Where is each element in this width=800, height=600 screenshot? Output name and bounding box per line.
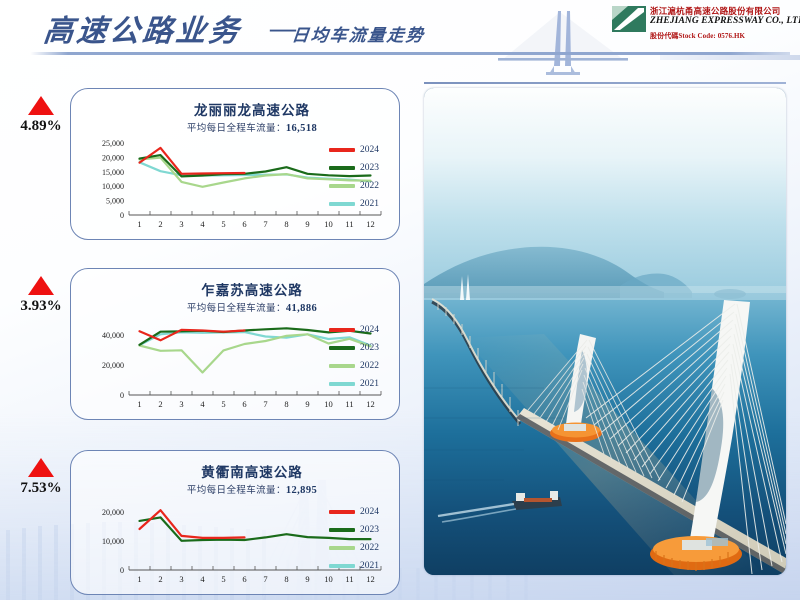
bridge-photo [424,88,786,575]
x-axis-tick-label: 4 [200,219,205,229]
legend-label: 2023 [360,163,379,173]
x-axis-tick-label: 6 [242,219,246,229]
legend-swatch-icon [329,364,355,368]
card-subtitle-label: 平均每日全程车流量： [187,304,286,314]
legend-item-2022: 2022 [329,539,395,557]
x-axis-tick-label: 2 [158,574,162,584]
delta-value: 7.53% [12,480,70,497]
y-axis-tick-label: 0 [120,211,124,220]
x-axis-tick-label: 1 [137,219,141,229]
legend-item-2021: 2021 [329,195,395,213]
page-header: 高速公路业务 — 日均车流量走势 浙江滬杭甬高速公路股份有限公司 ZHEJIAN… [0,0,800,76]
company-logo: 浙江滬杭甬高速公路股份有限公司 ZHEJIANG EXPRESSWAY CO.,… [612,4,790,50]
header-bridge-icon [498,8,628,78]
page-title: 高速公路业务 [42,6,245,50]
delta-indicator: 7.53% [12,458,70,497]
legend-swatch-icon [329,510,355,514]
legend-item-2023: 2023 [329,521,395,539]
x-axis-tick-label: 11 [345,399,353,409]
legend-label: 2022 [360,181,379,191]
x-axis-tick-label: 11 [345,574,353,584]
photo-top-divider [424,82,786,84]
legend-label: 2024 [360,325,379,335]
x-axis-tick-label: 6 [242,574,246,584]
x-axis-tick-label: 5 [221,399,225,409]
triangle-up-icon [28,96,54,115]
legend-item-2021: 2021 [329,375,395,393]
legend-swatch-icon [329,166,355,170]
y-axis-tick-label: 0 [120,566,124,575]
x-axis-tick-label: 12 [366,219,375,229]
x-axis-tick-label: 11 [345,219,353,229]
x-axis-tick-label: 3 [179,574,183,584]
legend-swatch-icon [329,546,355,550]
header-divider-accent [660,55,800,60]
x-axis-tick-label: 4 [200,399,205,409]
chart-card: 龙丽丽龙高速公路 平均每日全程车流量：16,518 05,00010,00015… [70,88,400,240]
legend-item-2023: 2023 [329,339,395,357]
card-subtitle: 平均每日全程车流量：41,886 [71,300,399,314]
x-axis-tick-label: 6 [242,399,246,409]
legend-item-2022: 2022 [329,177,395,195]
legend-item-2021: 2021 [329,557,395,575]
x-axis-tick-label: 1 [137,574,141,584]
card-title: 黄衢南高速公路 [71,461,399,481]
legend-label: 2022 [360,361,379,371]
x-axis-tick-label: 3 [179,399,183,409]
x-axis-tick-label: 10 [324,574,333,584]
y-axis-tick-label: 25,000 [102,139,124,148]
triangle-up-icon [28,276,54,295]
x-axis-tick-label: 8 [284,574,288,584]
card-title: 龙丽丽龙高速公路 [71,99,399,119]
chart-legend: 2024202320222021 [329,321,395,393]
x-axis-tick-label: 3 [179,219,183,229]
legend-swatch-icon [329,184,355,188]
x-axis-tick-label: 7 [263,399,267,409]
y-axis-tick-label: 5,000 [106,197,124,206]
chart-legend: 2024202320222021 [329,141,395,213]
triangle-up-icon [28,458,54,477]
x-axis-tick-label: 12 [366,399,375,409]
legend-label: 2023 [360,343,379,353]
legend-swatch-icon [329,564,355,568]
y-axis-tick-label: 10,000 [102,537,124,546]
delta-indicator: 4.89% [12,96,70,135]
legend-item-2023: 2023 [329,159,395,177]
legend-label: 2024 [360,145,379,155]
legend-swatch-icon [329,202,355,206]
card-subtitle: 平均每日全程车流量：16,518 [71,120,399,134]
legend-label: 2022 [360,543,379,553]
page-subtitle: 日均车流量走势 [291,21,427,46]
legend-label: 2021 [360,379,379,389]
legend-label: 2021 [360,561,379,571]
logo-stock-code: 股份代碼Stock Code: 0576.HK [650,31,745,41]
card-subtitle-value: 16,518 [286,123,317,134]
delta-value: 4.89% [12,118,70,135]
y-axis-tick-label: 20,000 [102,361,124,370]
x-axis-tick-label: 1 [137,399,141,409]
x-axis-tick-label: 9 [305,219,309,229]
y-axis-tick-label: 20,000 [102,508,124,517]
legend-label: 2021 [360,199,379,209]
x-axis-tick-label: 2 [158,399,162,409]
card-subtitle-label: 平均每日全程车流量： [187,486,286,496]
x-axis-tick-label: 7 [263,219,267,229]
x-axis-tick-label: 7 [263,574,267,584]
y-axis-tick-label: 10,000 [102,182,124,191]
delta-indicator: 3.93% [12,276,70,315]
x-axis-tick-label: 4 [200,574,205,584]
legend-label: 2023 [360,525,379,535]
y-axis-tick-label: 20,000 [102,153,124,162]
x-axis-tick-label: 9 [305,399,309,409]
legend-swatch-icon [329,528,355,532]
chart-card: 黄衢南高速公路 平均每日全程车流量：12,895 010,00020,00012… [70,450,400,595]
chart-card: 乍嘉苏高速公路 平均每日全程车流量：41,886 020,00040,00012… [70,268,400,420]
logo-name-en: ZHEJIANG EXPRESSWAY CO., LTD. [650,16,800,26]
delta-value: 3.93% [12,298,70,315]
company-logo-mark-icon [612,6,646,32]
metric-block-longli: 4.89% 龙丽丽龙高速公路 平均每日全程车流量：16,518 05,00010… [8,88,403,240]
x-axis-tick-label: 5 [221,219,225,229]
card-subtitle-label: 平均每日全程车流量： [187,124,286,134]
legend-item-2024: 2024 [329,503,395,521]
legend-label: 2024 [360,507,379,517]
card-subtitle-value: 12,895 [286,485,317,496]
y-axis-tick-label: 40,000 [102,331,124,340]
legend-swatch-icon [329,382,355,386]
metric-block-huangqunan: 7.53% 黄衢南高速公路 平均每日全程车流量：12,895 010,00020… [8,450,403,595]
series-line-2024 [140,510,245,538]
x-axis-tick-label: 12 [366,574,375,584]
legend-item-2024: 2024 [329,141,395,159]
x-axis-tick-label: 10 [324,399,333,409]
metric-block-zhajiasu: 3.93% 乍嘉苏高速公路 平均每日全程车流量：41,886 020,00040… [8,268,403,420]
x-axis-tick-label: 9 [305,574,309,584]
x-axis-tick-label: 5 [221,574,225,584]
y-axis-tick-label: 15,000 [102,168,124,177]
legend-item-2024: 2024 [329,321,395,339]
y-axis-tick-label: 0 [120,391,124,400]
x-axis-tick-label: 8 [284,399,288,409]
x-axis-tick-label: 10 [324,219,333,229]
chart-legend: 2024202320222021 [329,503,395,575]
legend-swatch-icon [329,346,355,350]
x-axis-tick-label: 2 [158,219,162,229]
x-axis-tick-label: 8 [284,219,288,229]
legend-swatch-icon [329,148,355,152]
card-title: 乍嘉苏高速公路 [71,279,399,299]
card-subtitle-value: 41,886 [286,303,317,314]
legend-item-2022: 2022 [329,357,395,375]
card-subtitle: 平均每日全程车流量：12,895 [71,482,399,496]
legend-swatch-icon [329,328,355,332]
